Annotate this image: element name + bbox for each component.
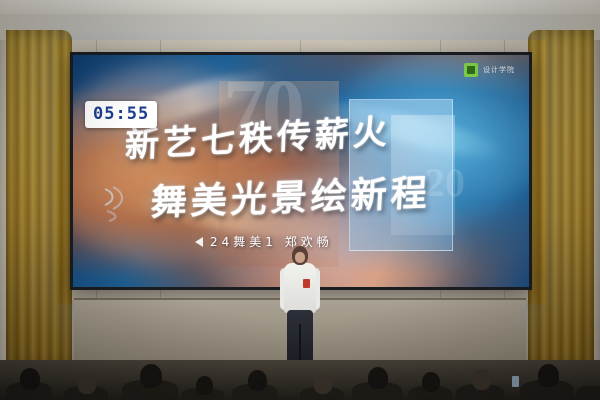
audience-head bbox=[368, 367, 388, 389]
presenter-face bbox=[295, 252, 305, 263]
audience-head bbox=[472, 369, 491, 390]
audience-head bbox=[314, 374, 332, 394]
auditorium-photo: 70 20 新艺七秩传薪火 舞美光景绘新程 24舞美1 郑欢畅 设计学院 05:… bbox=[0, 0, 600, 400]
audience-head bbox=[78, 374, 96, 394]
presenter bbox=[274, 246, 326, 366]
ceiling-band bbox=[0, 0, 600, 14]
school-logo: 设计学院 bbox=[464, 63, 515, 77]
wave-ornament-icon bbox=[101, 183, 135, 223]
school-logo-text: 设计学院 bbox=[483, 65, 515, 75]
play-caret-icon bbox=[195, 237, 203, 247]
leaf-square-icon bbox=[464, 63, 478, 77]
stage-curtain-left bbox=[6, 30, 72, 370]
audience-head bbox=[248, 370, 267, 391]
curtain-valance bbox=[0, 26, 600, 42]
audience-head bbox=[538, 364, 559, 387]
audience-head bbox=[422, 372, 440, 392]
stage-curtain-right bbox=[528, 30, 594, 370]
presenter-badge bbox=[303, 279, 310, 288]
audience-head bbox=[20, 368, 40, 390]
audience-head bbox=[196, 376, 213, 395]
audience-shoulder bbox=[576, 386, 600, 400]
presenter-leg-gap bbox=[299, 324, 301, 364]
audience-phone bbox=[512, 376, 519, 387]
screen-title-line-2: 舞美光景绘新程 bbox=[150, 164, 433, 226]
audience-head bbox=[140, 364, 162, 388]
audience-row bbox=[0, 360, 600, 400]
presenter-torso bbox=[284, 263, 316, 313]
countdown-timer: 05:55 bbox=[85, 101, 157, 128]
